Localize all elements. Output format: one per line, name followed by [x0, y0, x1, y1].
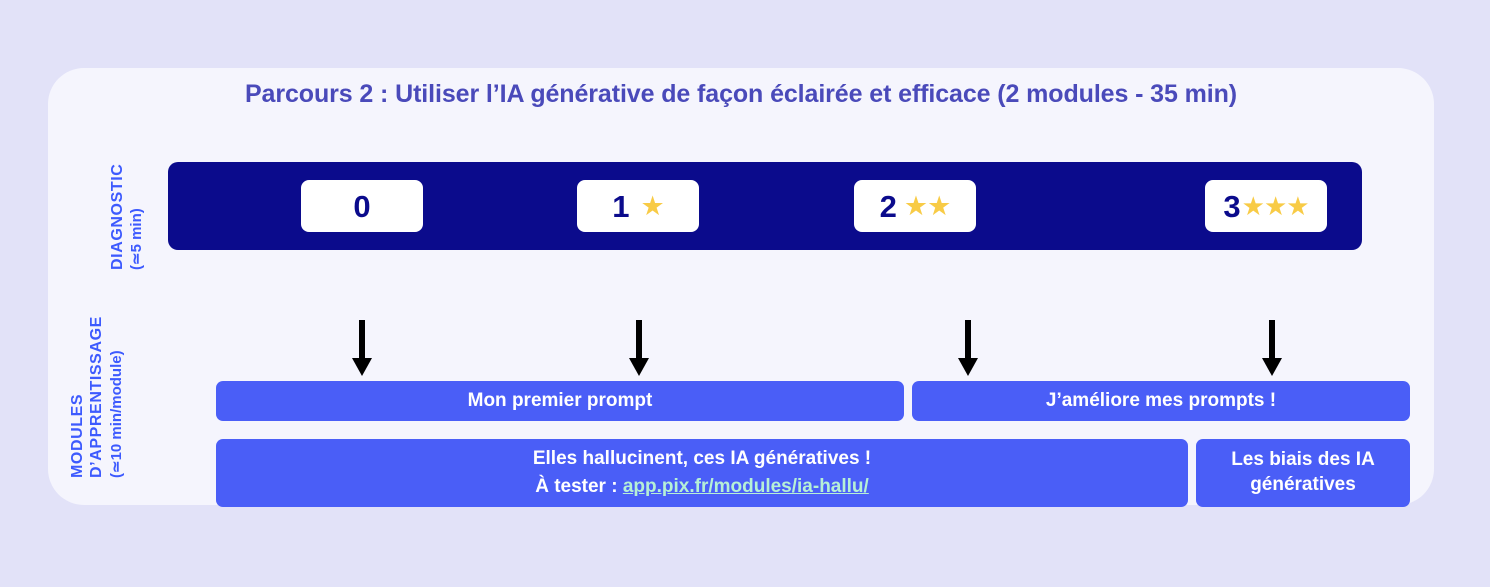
arrow-head — [1262, 358, 1282, 376]
module-label: J’améliore mes prompts ! — [1046, 390, 1276, 412]
axis-label-modules: MODULES D’APPRENTISSAGE (≃10 min/module) — [70, 394, 86, 478]
level-number: 2 — [880, 191, 897, 222]
level-badge-0[interactable]: 0 — [301, 180, 423, 232]
arrow-down-icon — [352, 320, 372, 376]
module-card-elles-hallucinent[interactable]: Elles hallucinent, ces IA génératives ! … — [216, 439, 1188, 507]
module-label: Elles hallucinent, ces IA génératives ! — [533, 445, 871, 473]
module-label: Mon premier prompt — [468, 390, 653, 412]
arrow-shaft — [359, 320, 365, 362]
axis-label-modules-line2: D’APPRENTISSAGE — [89, 316, 105, 478]
module-link-prefix: À tester : — [535, 476, 623, 497]
page-title: Parcours 2 : Utiliser l’IA générative de… — [48, 80, 1434, 109]
star-icon-group: ★ — [641, 193, 664, 220]
axis-label-modules-line3: (≃10 min/module) — [109, 350, 124, 478]
level-badge-1[interactable]: 1 ★ — [577, 180, 699, 232]
axis-label-diagnostic-line1: DIAGNOSTIC — [109, 164, 126, 270]
module-label: Les biais des IA — [1231, 448, 1375, 473]
module-card-jameliore-mes-prompts[interactable]: J’améliore mes prompts ! — [912, 381, 1410, 421]
star-icon-group: ★★★ — [1242, 193, 1309, 219]
axis-label-modules-line1: MODULES — [69, 394, 86, 478]
level-badge-2[interactable]: 2 ★★ — [854, 180, 976, 232]
axis-label-diagnostic-line2: (≃5 min) — [129, 208, 144, 270]
module-url-link[interactable]: app.pix.fr/modules/ia-hallu/ — [623, 476, 869, 497]
level-number: 0 — [353, 191, 370, 222]
level-number: 1 — [612, 191, 629, 222]
level-badge-3[interactable]: 3 ★★★ — [1205, 180, 1327, 232]
arrow-shaft — [965, 320, 971, 362]
arrow-head — [629, 358, 649, 376]
module-link-line: À tester : app.pix.fr/modules/ia-hallu/ — [535, 473, 869, 501]
diagnostic-bar: 0 1 ★ 2 ★★ 3 ★★★ — [168, 162, 1362, 250]
arrow-head — [958, 358, 978, 376]
arrow-shaft — [636, 320, 642, 362]
module-card-mon-premier-prompt[interactable]: Mon premier prompt — [216, 381, 904, 421]
parcours-card: Parcours 2 : Utiliser l’IA générative de… — [48, 68, 1434, 505]
arrow-down-icon — [629, 320, 649, 376]
module-card-les-biais-des-ia[interactable]: Les biais des IA génératives — [1196, 439, 1410, 507]
arrow-head — [352, 358, 372, 376]
level-number: 3 — [1223, 191, 1240, 222]
module-label: génératives — [1250, 473, 1356, 498]
arrow-down-icon — [1262, 320, 1282, 376]
axis-label-diagnostic: DIAGNOSTIC (≃5 min) — [110, 164, 126, 270]
star-icon-group: ★★ — [904, 193, 950, 220]
arrow-shaft — [1269, 320, 1275, 362]
arrow-down-icon — [958, 320, 978, 376]
